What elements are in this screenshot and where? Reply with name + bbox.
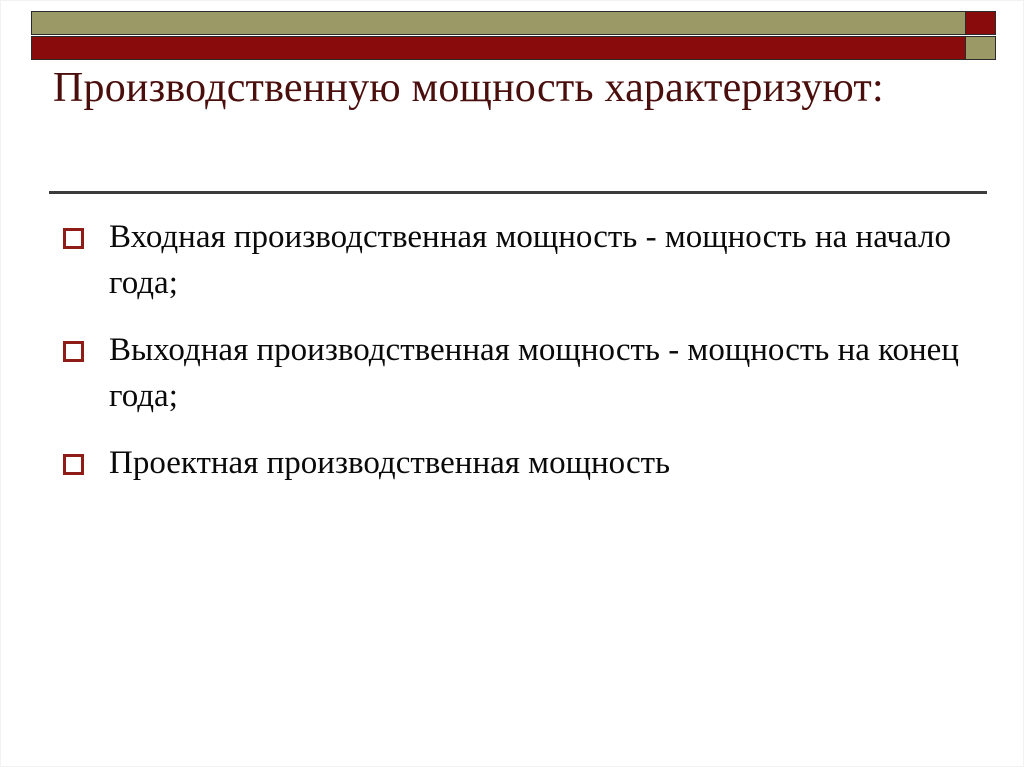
banner-segment-bottom-left xyxy=(31,36,966,60)
square-bullet-icon xyxy=(63,454,84,475)
banner-segment-bottom-right xyxy=(965,36,996,60)
list-item-label: Проектная производственная мощность xyxy=(109,441,971,487)
slide-title: Производственную мощность характеризуют: xyxy=(53,61,953,116)
banner-row-bottom xyxy=(31,36,996,60)
slide-canvas: Производственную мощность характеризуют:… xyxy=(0,0,1024,767)
banner-row-top xyxy=(31,11,996,35)
list-item-label: Выходная производственная мощность - мощ… xyxy=(109,328,971,419)
banner-segment-top-left xyxy=(31,11,966,35)
header-decoration-banner xyxy=(31,11,996,60)
list-item: Входная производственная мощность - мощн… xyxy=(61,215,971,306)
list-item: Выходная производственная мощность - мощ… xyxy=(61,328,971,419)
title-divider xyxy=(49,191,987,194)
list-item: Проектная производственная мощность xyxy=(61,441,971,487)
square-bullet-icon xyxy=(63,341,84,362)
square-bullet-icon xyxy=(63,228,84,249)
bullet-list: Входная производственная мощность - мощн… xyxy=(61,215,971,509)
banner-segment-top-right xyxy=(965,11,996,35)
list-item-label: Входная производственная мощность - мощн… xyxy=(109,215,971,306)
